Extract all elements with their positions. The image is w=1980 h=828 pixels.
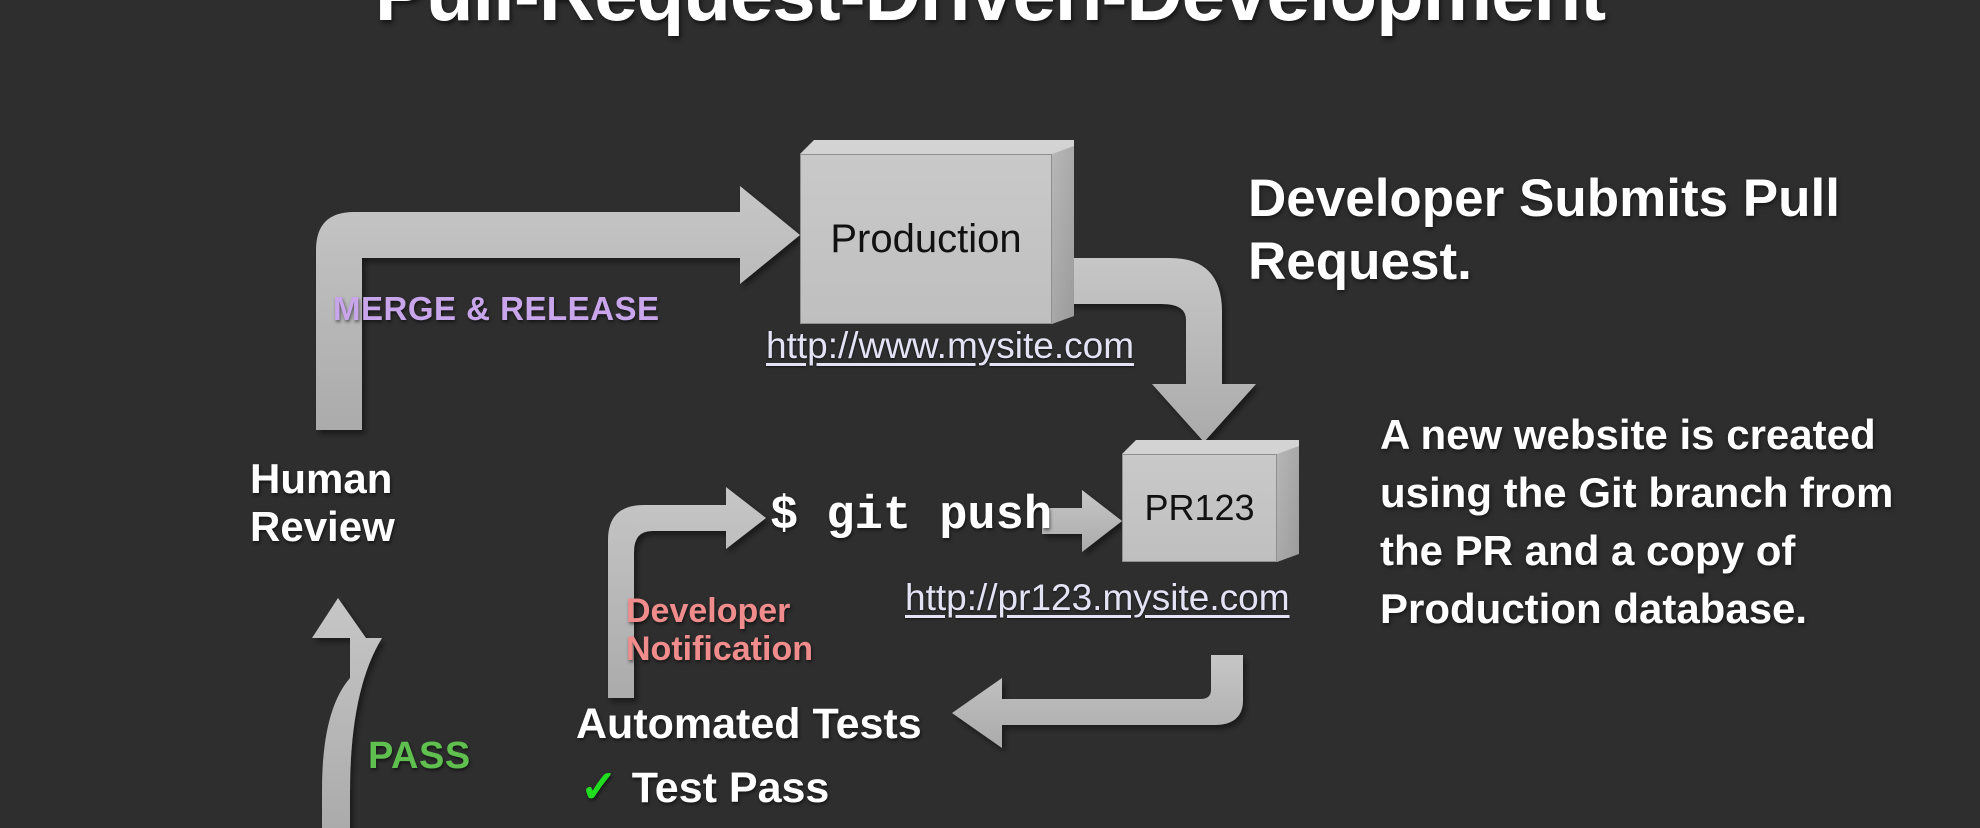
test-pass-label: Test Pass (632, 764, 830, 813)
production-url-link[interactable]: http://www.mysite.com (766, 325, 1134, 367)
pr123-box[interactable]: PR123 (1122, 440, 1299, 562)
new-website-callout: A new website is created using the Git b… (1380, 406, 1920, 638)
git-push-command: $ git push (770, 490, 1052, 543)
pr123-url-link[interactable]: http://pr123.mysite.com (905, 577, 1290, 619)
pr123-box-front-face: PR123 (1122, 454, 1277, 562)
pr123-box-label: PR123 (1144, 490, 1254, 526)
push-to-pr-arrow (1042, 490, 1122, 552)
human-review-line-1: Human (250, 455, 395, 503)
automated-tests-label: Automated Tests (576, 700, 922, 749)
production-box-top-face (800, 140, 1074, 154)
developer-notification-line-1: Developer (626, 592, 813, 630)
developer-submits-callout: Developer Submits Pull Request. (1248, 168, 1888, 293)
test-pass-row: ✓ Test Pass (580, 760, 829, 813)
pr123-box-top-face (1122, 440, 1299, 454)
merge-release-label: MERGE & RELEASE (333, 290, 660, 328)
developer-notification-label: Developer Notification (626, 592, 813, 668)
production-box-front-face: Production (800, 154, 1052, 324)
production-box[interactable]: Production (800, 140, 1074, 324)
production-box-side-face (1052, 146, 1074, 324)
human-review-line-2: Review (250, 503, 395, 551)
developer-notification-line-2: Notification (626, 630, 813, 668)
pr-to-tests-arrow (952, 655, 1243, 748)
human-review-label: Human Review (250, 455, 395, 552)
pass-label: PASS (368, 735, 471, 778)
slide-canvas: Pull-Request-Driven-Development (0, 0, 1980, 828)
production-box-label: Production (830, 219, 1021, 259)
pass-arrow (312, 598, 382, 828)
pr123-box-side-face (1277, 446, 1299, 562)
check-icon: ✓ (580, 760, 618, 813)
